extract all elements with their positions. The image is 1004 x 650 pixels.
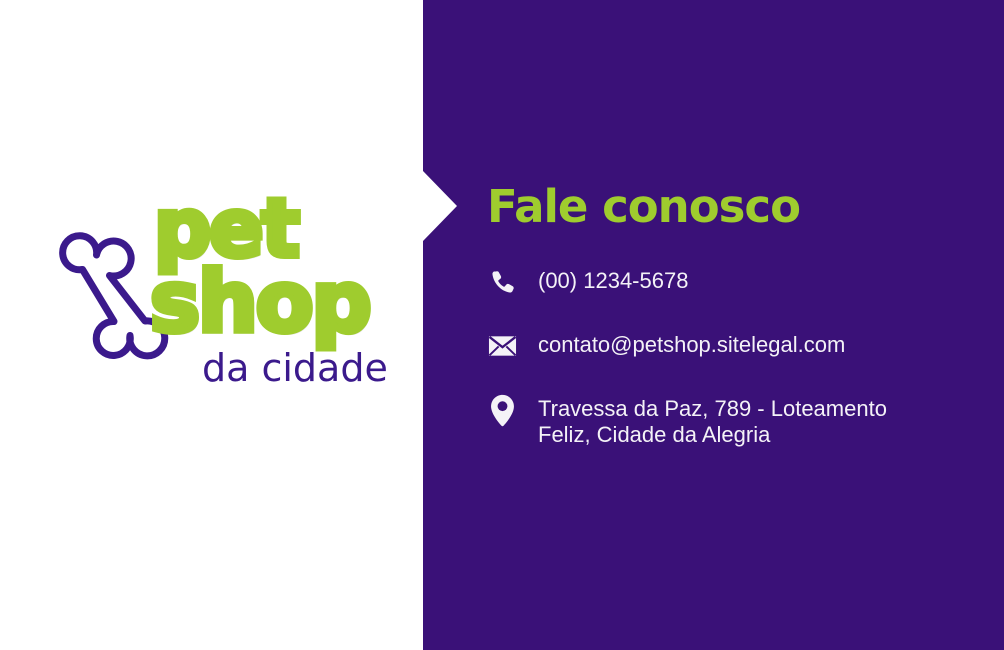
contact-row-email[interactable]: contato@petshop.sitelegal.com bbox=[487, 330, 957, 362]
business-card: pet shop da cidade Fale conosco (00) 123… bbox=[0, 0, 1004, 650]
brand-logo: pet shop da cidade bbox=[52, 196, 397, 411]
logo-word-shop: shop bbox=[150, 268, 400, 337]
envelope-icon bbox=[487, 330, 517, 362]
contact-value-phone: (00) 1234-5678 bbox=[538, 266, 688, 294]
contact-list: (00) 1234-5678 contato@petshop.sitelegal… bbox=[487, 266, 957, 480]
contact-heading: Fale conosco bbox=[487, 180, 800, 233]
contact-value-email: contato@petshop.sitelegal.com bbox=[538, 330, 845, 358]
logo-wordmark: pet shop da cidade bbox=[150, 196, 400, 390]
contact-row-address[interactable]: Travessa da Paz, 789 - Loteamento Feliz,… bbox=[487, 394, 957, 448]
contact-row-phone[interactable]: (00) 1234-5678 bbox=[487, 266, 957, 298]
contact-value-address: Travessa da Paz, 789 - Loteamento Feliz,… bbox=[538, 394, 938, 448]
logo-tagline: da cidade bbox=[202, 346, 400, 390]
phone-icon bbox=[487, 266, 517, 298]
logo-panel: pet shop da cidade bbox=[0, 0, 423, 650]
logo-word-pet: pet bbox=[154, 196, 400, 262]
map-pin-icon bbox=[487, 394, 517, 426]
